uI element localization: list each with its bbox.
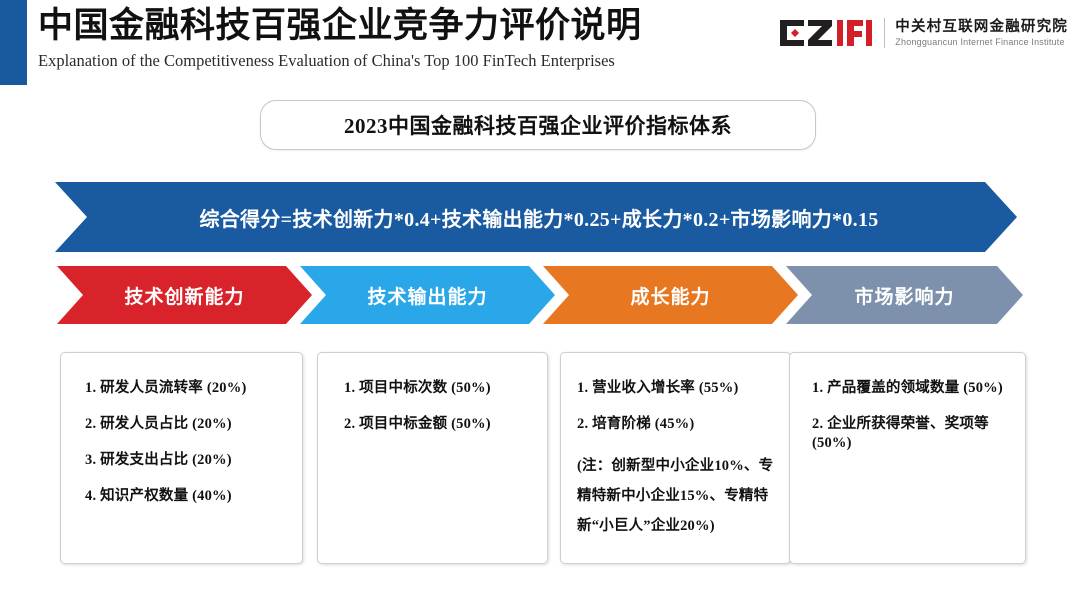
indicator-item: 1. 营业收入增长率 (55%)	[577, 379, 774, 398]
institute-name-cn: 中关村互联网金融研究院	[895, 19, 1068, 36]
category-label: 市场影响力	[854, 282, 954, 309]
czifi-logo-icon	[778, 18, 874, 48]
indicator-card-technical-output: 1. 项目中标次数 (50%) 2. 项目中标金额 (50%)	[317, 352, 548, 564]
indicator-item: 2. 项目中标金额 (50%)	[334, 415, 531, 434]
indicator-item: 1. 项目中标次数 (50%)	[334, 379, 531, 398]
formula-text: 综合得分=技术创新力*0.4+技术输出能力*0.25+成长力*0.2+市场影响力…	[193, 203, 878, 232]
indicator-note: (注：创新型中小企业10%、专精特新中小企业15%、专精特新“小巨人”企业20%…	[577, 451, 774, 541]
page-header: 中国金融科技百强企业竞争力评价说明 Explanation of the Com…	[0, 0, 1080, 88]
subtitle-text: 2023中国金融科技百强企业评价指标体系	[344, 110, 732, 140]
category-label: 成长能力	[630, 282, 710, 309]
header-accent-bar	[0, 0, 27, 85]
indicator-item: 2. 研发人员占比 (20%)	[77, 415, 286, 434]
category-chevron-row: 技术创新能力 技术输出能力 成长能力 市场影响力	[57, 266, 1023, 324]
category-label: 技术创新能力	[124, 282, 244, 309]
category-chevron-technical-innovation[interactable]: 技术创新能力	[57, 266, 312, 324]
formula-banner: 综合得分=技术创新力*0.4+技术输出能力*0.25+成长力*0.2+市场影响力…	[55, 182, 1017, 252]
indicator-card-growth: 1. 营业收入增长率 (55%) 2. 培育阶梯 (45%) (注：创新型中小企…	[560, 352, 791, 564]
page-title-en: Explanation of the Competitiveness Evalu…	[38, 49, 642, 73]
indicator-card-row: 1. 研发人员流转率 (20%) 2. 研发人员占比 (20%) 3. 研发支出…	[60, 352, 1026, 564]
category-chevron-market-influence[interactable]: 市场影响力	[786, 266, 1023, 324]
indicator-item: 4. 知识产权数量 (40%)	[77, 487, 286, 506]
subtitle-box: 2023中国金融科技百强企业评价指标体系	[260, 100, 816, 150]
logo-text-block: 中关村互联网金融研究院 Zhongguancun Internet Financ…	[895, 19, 1068, 48]
institute-name-en: Zhongguancun Internet Finance Institute	[895, 36, 1068, 48]
category-label: 技术输出能力	[367, 282, 487, 309]
title-block: 中国金融科技百强企业竞争力评价说明 Explanation of the Com…	[38, 4, 642, 73]
logo-divider	[884, 18, 885, 48]
category-chevron-technical-output[interactable]: 技术输出能力	[300, 266, 555, 324]
indicator-card-technical-innovation: 1. 研发人员流转率 (20%) 2. 研发人员占比 (20%) 3. 研发支出…	[60, 352, 303, 564]
page-title-cn: 中国金融科技百强企业竞争力评价说明	[38, 4, 642, 48]
indicator-item: 1. 产品覆盖的领域数量 (50%)	[806, 379, 1009, 398]
indicator-item: 3. 研发支出占比 (20%)	[77, 451, 286, 470]
category-chevron-growth[interactable]: 成长能力	[543, 266, 798, 324]
indicator-item: 2. 企业所获得荣誉、奖项等 (50%)	[806, 415, 1009, 453]
indicator-card-market-influence: 1. 产品覆盖的领域数量 (50%) 2. 企业所获得荣誉、奖项等 (50%)	[789, 352, 1026, 564]
indicator-item: 2. 培育阶梯 (45%)	[577, 415, 774, 434]
indicator-item: 1. 研发人员流转率 (20%)	[77, 379, 286, 398]
institute-logo: 中关村互联网金融研究院 Zhongguancun Internet Financ…	[778, 12, 1068, 54]
